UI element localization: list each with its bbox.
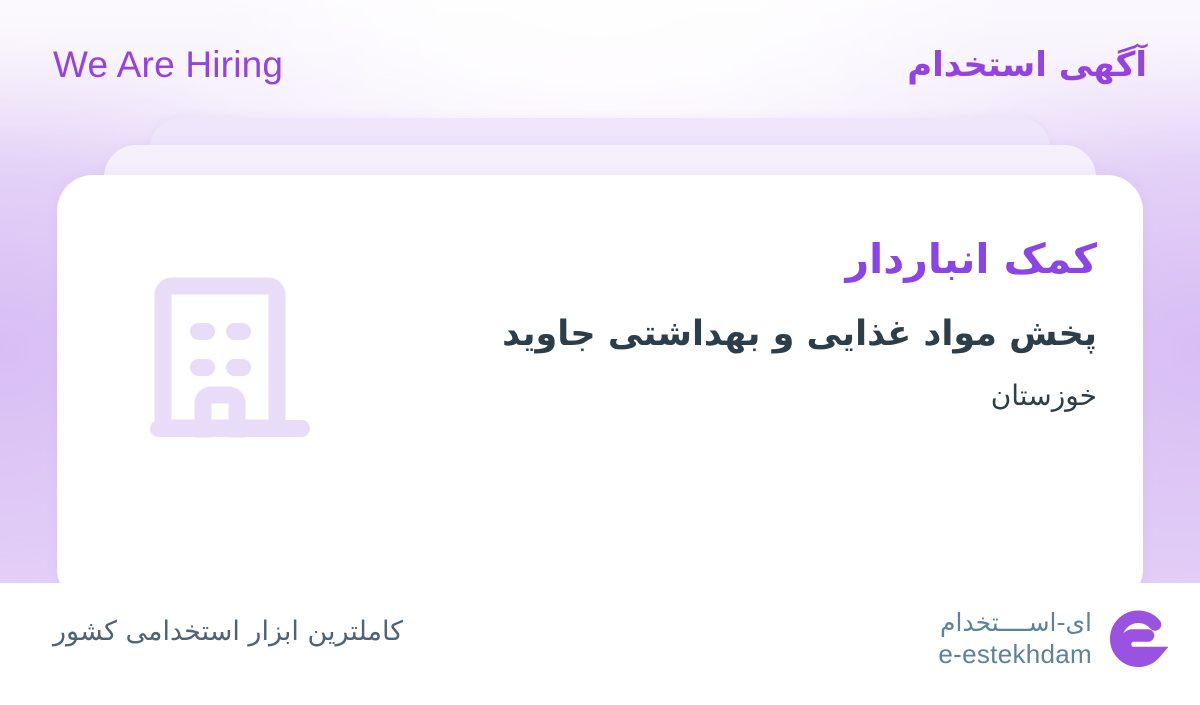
header-persian-label: آگهی استخدام <box>907 42 1147 88</box>
brand-wordmark: ای-اســــتخدام e-estekhdam <box>938 608 1092 669</box>
brand-persian-name: ای-اســــتخدام <box>940 608 1092 638</box>
job-details: کمک انباردار پخش مواد غذایی و بهداشتی جا… <box>437 231 1097 416</box>
company-name: پخش مواد غذایی و بهداشتی جاوید <box>437 310 1097 358</box>
job-card-inner: کمک انباردار پخش مواد غذایی و بهداشتی جا… <box>57 175 1143 605</box>
job-location: خوزستان <box>437 376 1097 416</box>
brand-logo[interactable]: ای-اســــتخدام e-estekhdam <box>938 607 1168 669</box>
job-title: کمک انباردار <box>437 231 1097 287</box>
building-icon <box>150 277 310 443</box>
job-ad-poster: We Are Hiring آگهی استخدام <box>0 0 1200 705</box>
poster-header: We Are Hiring آگهی استخدام <box>0 0 1200 120</box>
brand-english-name: e-estekhdam <box>938 639 1092 669</box>
footer-tagline: کاملترین ابزار استخدامی کشور <box>53 610 403 654</box>
e-logo-icon <box>1106 607 1168 669</box>
company-logo <box>145 275 315 445</box>
job-card[interactable]: کمک انباردار پخش مواد غذایی و بهداشتی جا… <box>57 175 1143 605</box>
header-english-label: We Are Hiring <box>53 44 283 86</box>
poster-footer: کاملترین ابزار استخدامی کشور ای-اســــتخ… <box>0 583 1200 705</box>
